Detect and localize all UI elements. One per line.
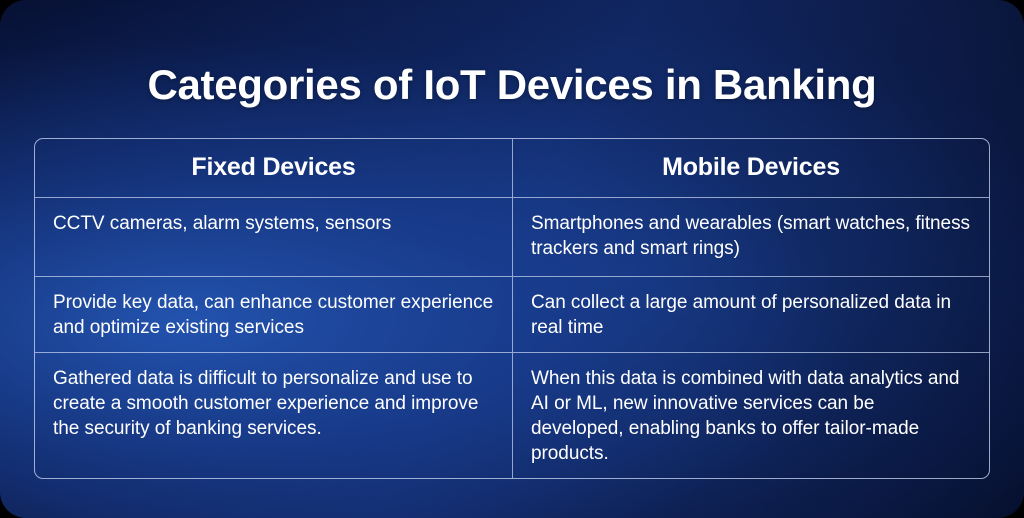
table-cell-fixed-1: CCTV cameras, alarm systems, sensors: [35, 198, 513, 276]
page-title: Categories of IoT Devices in Banking: [0, 62, 1024, 108]
table-cell-mobile-1: Smartphones and wearables (smart watches…: [513, 198, 989, 276]
table-row: Gathered data is difficult to personaliz…: [35, 353, 989, 478]
comparison-table: Fixed Devices Mobile Devices CCTV camera…: [34, 138, 990, 479]
table-cell-mobile-2: Can collect a large amount of personaliz…: [513, 277, 989, 352]
table-cell-fixed-2: Provide key data, can enhance customer e…: [35, 277, 513, 352]
table-row: CCTV cameras, alarm systems, sensors Sma…: [35, 198, 989, 277]
slide-canvas: Categories of IoT Devices in Banking Fix…: [0, 0, 1024, 518]
table-cell-fixed-3: Gathered data is difficult to personaliz…: [35, 353, 513, 478]
table-cell-mobile-3: When this data is combined with data ana…: [513, 353, 989, 478]
table-row: Provide key data, can enhance customer e…: [35, 277, 989, 353]
table-header-fixed-devices: Fixed Devices: [35, 139, 513, 197]
table-header-row: Fixed Devices Mobile Devices: [35, 139, 989, 198]
table-header-mobile-devices: Mobile Devices: [513, 139, 989, 197]
